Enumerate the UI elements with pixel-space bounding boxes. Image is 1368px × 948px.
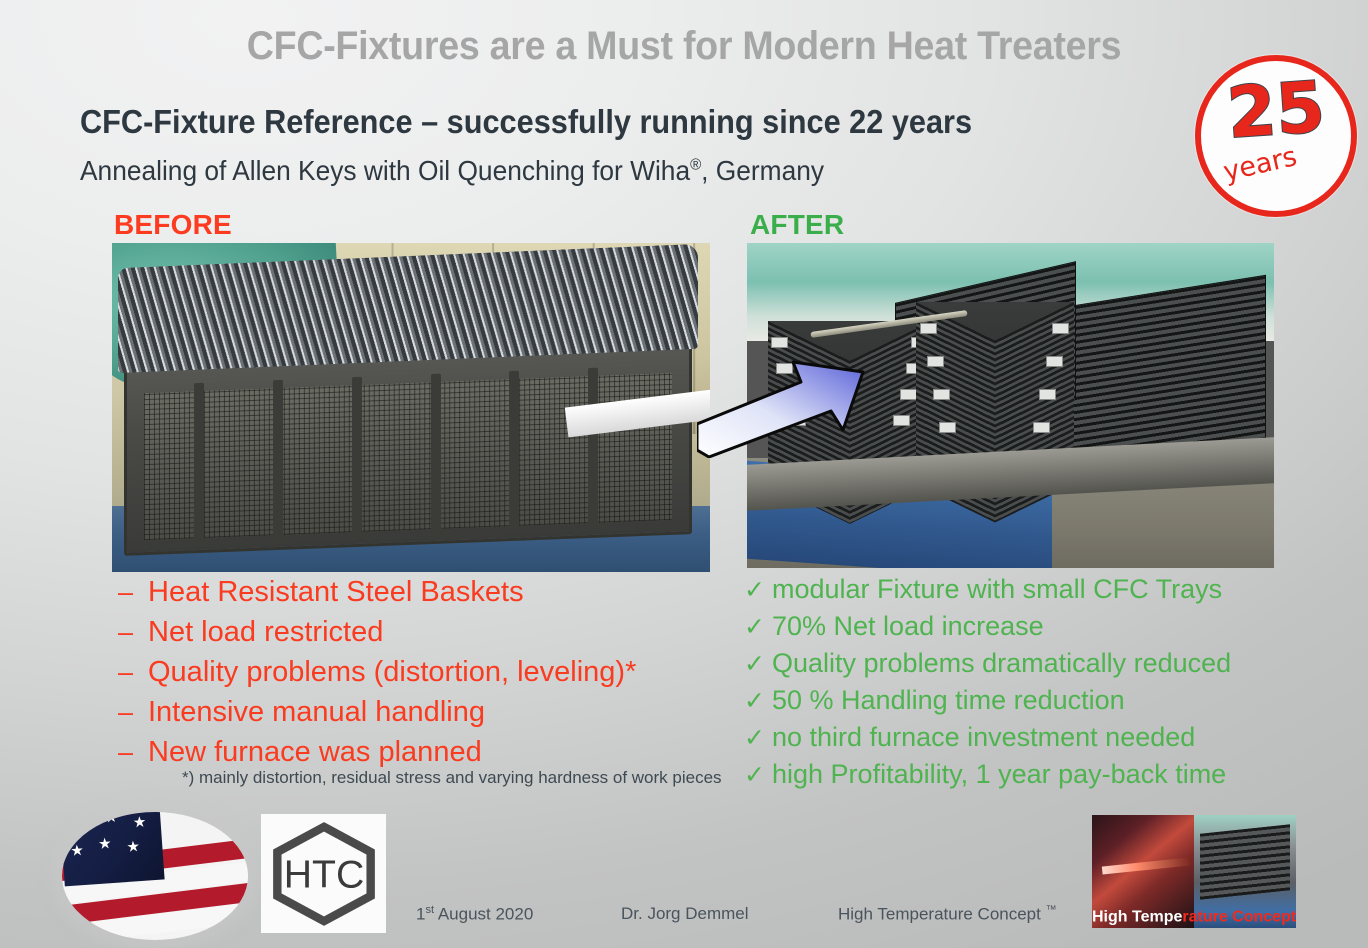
htc-logo: HTC [261, 814, 386, 933]
registered-mark: ® [690, 157, 701, 174]
subheadline-text: Annealing of Allen Keys with Oil Quenchi… [80, 155, 690, 186]
basket-rib [509, 371, 519, 535]
headline: CFC-Fixture Reference – successfully run… [80, 103, 972, 141]
htc-logo-text: HTC [283, 853, 364, 896]
list-item-label: modular Fixture with small CFC Trays [772, 576, 1222, 603]
brand-caption-red: rature Concept [1182, 908, 1296, 925]
subheadline-suffix: , Germany [701, 155, 824, 186]
hot-bar [1102, 858, 1190, 875]
anniversary-badge: 25 years [1195, 55, 1357, 217]
list-item: ✓ no third furnace investment needed [744, 724, 1354, 751]
check-icon: ✓ [744, 763, 772, 788]
list-item-label: Heat Resistant Steel Baskets [148, 578, 524, 607]
list-item-label: Quality problems (distortion, leveling)* [148, 658, 636, 687]
tray-clip [1046, 356, 1063, 367]
star-icon: ★ [98, 836, 112, 852]
date-rest: August 2020 [434, 905, 533, 924]
check-icon: ✓ [744, 652, 772, 677]
list-item: – Quality problems (distortion, leveling… [118, 658, 738, 687]
star-icon: ★ [70, 843, 84, 859]
list-item-label: Net load restricted [148, 618, 383, 647]
dash-marker: – [118, 699, 148, 726]
list-item-label: 50 % Handling time reduction [772, 687, 1125, 714]
check-icon: ✓ [744, 726, 772, 751]
star-icon: ★ [76, 817, 90, 833]
company-name: High Temperature Concept [838, 905, 1046, 924]
basket-rib [588, 368, 598, 532]
tray-clip [920, 323, 937, 334]
list-item: ✓ high Profitability, 1 year pay-back ti… [744, 761, 1354, 788]
star-icon: ★ [126, 839, 140, 855]
basket-rib [430, 374, 440, 538]
tray-clip [933, 389, 950, 400]
tray-clip [893, 415, 910, 426]
list-item-label: 70% Net load increase [772, 613, 1044, 640]
trademark-mark: ™ [1046, 904, 1057, 916]
us-flag-logo: ★ ★ ★ ★ ★ ★ [62, 812, 248, 940]
list-item-label: Quality problems dramatically reduced [772, 650, 1231, 677]
list-item-label: New furnace was planned [148, 738, 482, 767]
check-icon: ✓ [744, 689, 772, 714]
check-icon: ✓ [744, 615, 772, 640]
dash-marker: – [118, 739, 148, 766]
list-item-label: no third furnace investment needed [772, 724, 1195, 751]
subheadline: Annealing of Allen Keys with Oil Quenchi… [80, 155, 824, 187]
list-item-label: high Profitability, 1 year pay-back time [772, 761, 1226, 788]
badge-number: 25 [1198, 64, 1353, 156]
page-title: CFC-Fixtures are a Must for Modern Heat … [41, 24, 1327, 69]
htc-hexagon-icon: HTC [268, 820, 380, 928]
brand-logo-caption: High Temperature Concept™ [1092, 907, 1296, 926]
slide-canvas: CFC-Fixtures are a Must for Modern Heat … [0, 0, 1368, 948]
dash-marker: – [118, 659, 148, 686]
before-photo [112, 243, 710, 572]
tray-clip [1052, 323, 1069, 334]
list-item: – Intensive manual handling [118, 698, 738, 727]
slide-author: Dr. Jorg Demmel [621, 904, 749, 924]
transition-arrow-icon [697, 358, 867, 458]
tray-clip [1033, 422, 1050, 433]
basket-rib [194, 383, 204, 547]
after-label: AFTER [750, 209, 844, 241]
footnote: *) mainly distortion, residual stress an… [182, 768, 722, 788]
flag-canton: ★ ★ ★ ★ ★ ★ [62, 812, 165, 887]
star-icon: ★ [104, 812, 118, 826]
before-list: – Heat Resistant Steel Baskets – Net loa… [118, 578, 738, 778]
before-label: BEFORE [114, 209, 232, 241]
list-item-label: Intensive manual handling [148, 698, 485, 727]
after-list: ✓ modular Fixture with small CFC Trays ✓… [744, 576, 1354, 798]
tray-clip [927, 356, 944, 367]
basket-rib [273, 380, 283, 544]
tray-clip [939, 422, 956, 433]
list-item: – New furnace was planned [118, 738, 738, 767]
check-icon: ✓ [744, 578, 772, 603]
tray-clip [900, 389, 917, 400]
list-item: – Heat Resistant Steel Baskets [118, 578, 738, 607]
brand-logo: High Temperature Concept™ [1092, 815, 1296, 928]
slide-date: 1st August 2020 [416, 904, 533, 925]
dash-marker: – [118, 619, 148, 646]
tray-clip [771, 337, 788, 348]
tray-clip [1039, 389, 1056, 400]
list-item: ✓ 50 % Handling time reduction [744, 687, 1354, 714]
list-item: ✓ Quality problems dramatically reduced [744, 650, 1354, 677]
star-icon: ★ [132, 815, 146, 831]
dash-marker: – [118, 579, 148, 606]
list-item: ✓ 70% Net load increase [744, 613, 1354, 640]
slide-company: High Temperature Concept ™ [838, 904, 1057, 925]
list-item: – Net load restricted [118, 618, 738, 647]
date-ordinal: st [425, 904, 434, 916]
list-item: ✓ modular Fixture with small CFC Trays [744, 576, 1354, 603]
brand-caption-white: High Tempe [1092, 908, 1182, 925]
cfc-stack [1200, 824, 1290, 899]
basket-rib [352, 377, 362, 541]
